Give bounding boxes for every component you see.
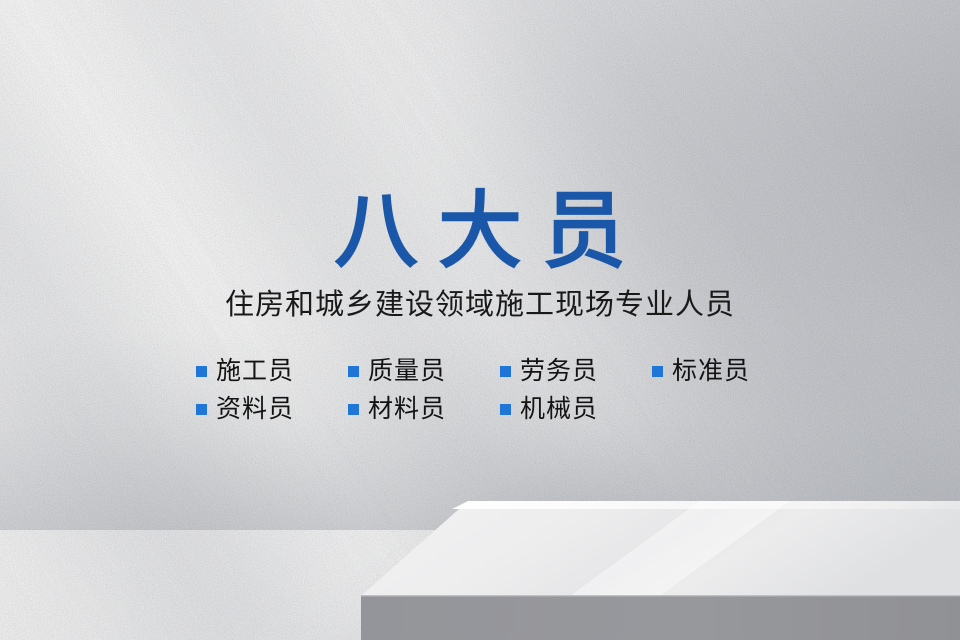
role-label: 材料员 <box>368 394 446 424</box>
role-row: 资料员 材料员 机械员 <box>196 390 796 428</box>
square-bullet-icon <box>196 366 207 377</box>
role-label: 劳务员 <box>520 356 598 386</box>
role-item-zhiliangyuan[interactable]: 质量员 <box>348 356 500 386</box>
square-bullet-icon <box>348 404 359 415</box>
role-item-cailiaoyuan[interactable]: 材料员 <box>348 394 500 424</box>
page-title: 八大员 <box>0 186 960 276</box>
role-item-laowuyuan[interactable]: 劳务员 <box>500 356 652 386</box>
role-list: 施工员 质量员 劳务员 标准员 资料员 <box>196 352 796 428</box>
role-label: 资料员 <box>216 394 294 424</box>
role-label: 标准员 <box>672 356 750 386</box>
role-label: 质量员 <box>368 356 446 386</box>
poster-canvas: 八大员 住房和城乡建设领域施工现场专业人员 施工员 质量员 劳务员 <box>0 0 960 640</box>
role-label: 施工员 <box>216 356 294 386</box>
square-bullet-icon <box>500 404 511 415</box>
role-item-biaozhunyuan[interactable]: 标准员 <box>652 356 804 386</box>
square-bullet-icon <box>652 366 663 377</box>
role-item-jixieyuan[interactable]: 机械员 <box>500 394 652 424</box>
page-subtitle: 住房和城乡建设领域施工现场专业人员 <box>0 287 960 321</box>
role-item-shigongyuan[interactable]: 施工员 <box>196 356 348 386</box>
role-item-ziliaoyuan[interactable]: 资料员 <box>196 394 348 424</box>
role-row: 施工员 质量员 劳务员 标准员 <box>196 352 796 390</box>
square-bullet-icon <box>196 404 207 415</box>
role-label: 机械员 <box>520 394 598 424</box>
square-bullet-icon <box>500 366 511 377</box>
square-bullet-icon <box>348 366 359 377</box>
